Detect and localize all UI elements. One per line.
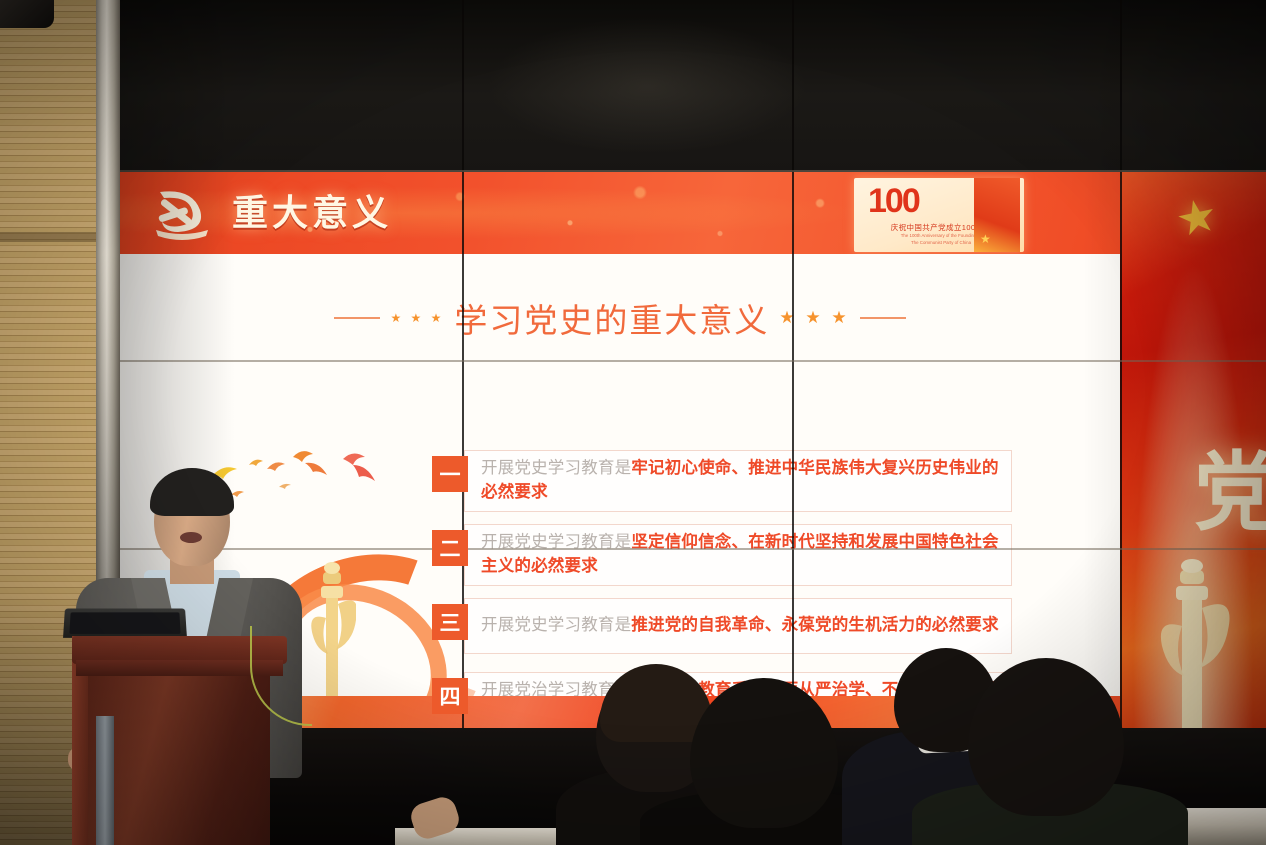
video-wall-bezel-seam [792, 0, 794, 760]
slide-title-row: ★ ★ ★ 学习党史的重大意义 ★ ★ ★ [120, 294, 1120, 342]
panel-glow [1120, 172, 1266, 760]
item-number-badge: 四 [432, 678, 468, 714]
title-rule-right [860, 317, 906, 319]
item-number-badge: 一 [432, 456, 468, 492]
item-text: 开展党史学习教育是坚定信仰信念、在新时代坚持和发展中国特色社会主义的必然要求 [481, 531, 1001, 579]
conference-hall-scene: 重大意义 100 庆祝中国共产党成立100周年 The 100th Annive… [0, 0, 1266, 845]
item-emphasis-text: 推进党的自我革命、永葆党的生机活力的必然要求 [631, 616, 998, 634]
hammer-and-sickle-party-emblem [148, 186, 216, 242]
anniversary-100-logo: 100 庆祝中国共产党成立100周年 The 100th Anniversary… [854, 178, 1024, 252]
item-text: 开展党史学习教育是推进党的自我革命、永葆党的生机活力的必然要求 [481, 614, 999, 638]
slide-header-title: 重大意义 [232, 184, 392, 236]
anniversary-ribbon-star-icon [974, 178, 1020, 252]
item-number-badge: 三 [432, 604, 468, 640]
title-stars-left-icon: ★ ★ ★ [390, 311, 444, 325]
video-wall-bezel-seam [120, 170, 1266, 172]
item-prefix-text: 开展党史学习教育是 [481, 459, 631, 477]
item-number-badge: 二 [432, 530, 468, 566]
item-prefix-text: 开展党史学习教育是 [481, 616, 631, 634]
podium-body [88, 674, 270, 845]
anniversary-number: 100 [868, 182, 919, 221]
item-text-box: 开展党史学习教育是牢记初心使命、推进中华民族伟大复兴历史伟业的必然要求 [464, 450, 1012, 512]
ceiling-fixture [0, 0, 54, 28]
title-rule-left [334, 317, 380, 319]
video-wall-dark-upper-panels [120, 0, 1266, 172]
list-item[interactable]: 三 开展党史学习教育是推进党的自我革命、永葆党的生机活力的必然要求 [432, 598, 1012, 660]
item-text-box: 开展党史学习教育是推进党的自我革命、永葆党的生机活力的必然要求 [464, 598, 1012, 654]
podium-support-stand [96, 716, 114, 845]
video-wall-bezel-seam [462, 0, 464, 760]
video-wall-bezel-seam [1120, 0, 1122, 760]
list-item[interactable]: 一 开展党史学习教育是牢记初心使命、推进中华民族伟大复兴历史伟业的必然要求 [432, 450, 1012, 512]
item-text-box: 开展党史学习教育是坚定信仰信念、在新时代坚持和发展中国特色社会主义的必然要求 [464, 524, 1012, 586]
slide-header-band: 重大意义 100 庆祝中国共产党成立100周年 The 100th Annive… [120, 172, 1120, 254]
speaker-hair [150, 468, 234, 516]
video-wall-right-red-panel: ★ 党 [1120, 172, 1266, 760]
video-wall-bezel-seam [120, 360, 1266, 362]
speaker-mouth [180, 532, 202, 543]
item-text: 开展党史学习教育是牢记初心使命、推进中华民族伟大复兴历史伟业的必然要求 [481, 457, 1001, 505]
slide-title: 学习党史的重大意义 [454, 294, 769, 342]
list-item[interactable]: 二 开展党史学习教育是坚定信仰信念、在新时代坚持和发展中国特色社会主义的必然要求 [432, 524, 1012, 586]
title-stars-right-icon: ★ ★ ★ [779, 308, 849, 328]
